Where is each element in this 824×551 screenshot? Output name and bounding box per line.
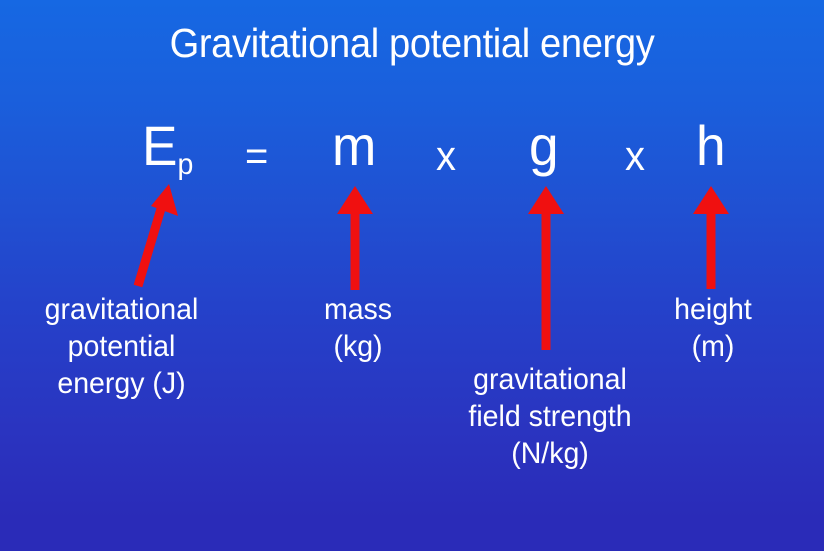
label-height: height (m) (636, 291, 790, 365)
label-potential-energy-line3: energy (J) (6, 365, 237, 402)
page-title: Gravitational potential energy (29, 18, 795, 68)
label-gravitational-field-strength: gravitational field strength (N/kg) (426, 361, 675, 472)
formula-term-potential-energy: Ep (142, 118, 193, 193)
formula-symbol-h: h (696, 118, 726, 174)
label-height-line1: height (636, 291, 790, 328)
label-mass-line2: (kg) (281, 328, 435, 365)
annotation-arrows (0, 0, 824, 551)
label-potential-energy-line2: potential (6, 328, 237, 365)
arrow-to-mass (337, 186, 373, 290)
label-gravity-line1: gravitational (426, 361, 675, 398)
formula-subscript-p: p (177, 148, 193, 181)
formula-operator-multiply-2: x (625, 128, 645, 184)
formula-symbol-m: m (332, 118, 376, 174)
slide-canvas: Gravitational potential energy Ep = m x … (0, 0, 824, 551)
arrow-to-height (693, 186, 729, 289)
formula-operator-multiply-1: x (436, 128, 456, 184)
formula-symbol-g: g (529, 118, 559, 174)
label-potential-energy-line1: gravitational (6, 291, 237, 328)
label-potential-energy: gravitational potential energy (J) (6, 291, 237, 402)
label-mass: mass (kg) (281, 291, 435, 365)
label-gravity-line2: field strength (426, 398, 675, 435)
formula-symbol-E: E (142, 114, 177, 177)
label-gravity-line3: (N/kg) (426, 435, 675, 472)
label-mass-line1: mass (281, 291, 435, 328)
formula-operator-equals: = (245, 128, 268, 184)
arrow-to-potential-energy (138, 184, 178, 286)
label-height-line2: (m) (636, 328, 790, 365)
arrow-to-gravitational-field-strength (528, 186, 564, 350)
